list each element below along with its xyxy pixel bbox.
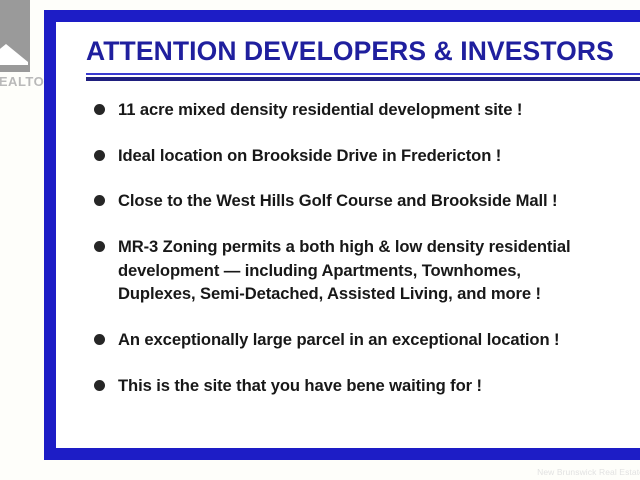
- watermark: New Brunswick Real Estate: [537, 467, 640, 477]
- list-item-line: Close to the West Hills Golf Course and …: [118, 189, 557, 213]
- flyer-page: ATTENTION DEVELOPERS & INVESTORS 11 acre…: [56, 22, 640, 448]
- list-item: Close to the West Hills Golf Course and …: [94, 189, 640, 213]
- title-divider: [86, 73, 640, 81]
- list-item-line: MR-3 Zoning permits a both high & low de…: [118, 235, 571, 259]
- bullet-dot-icon: [94, 380, 105, 391]
- list-item: An exceptionally large parcel in an exce…: [94, 328, 640, 352]
- list-item: 11 acre mixed density residential develo…: [94, 98, 640, 122]
- list-item-line: An exceptionally large parcel in an exce…: [118, 328, 559, 352]
- page-title: ATTENTION DEVELOPERS & INVESTORS: [86, 38, 640, 66]
- feature-bullet-list: 11 acre mixed density residential develo…: [86, 81, 640, 398]
- list-item-text: An exceptionally large parcel in an exce…: [118, 328, 559, 352]
- bullet-dot-icon: [94, 150, 105, 161]
- list-item: Ideal location on Brookside Drive in Fre…: [94, 144, 640, 168]
- bullet-dot-icon: [94, 334, 105, 345]
- list-item-line: development — including Apartments, Town…: [118, 259, 571, 283]
- bullet-dot-icon: [94, 241, 105, 252]
- realtor-roof-icon: [0, 42, 28, 68]
- bullet-dot-icon: [94, 195, 105, 206]
- list-item: This is the site that you have bene wait…: [94, 374, 640, 398]
- list-item-text: Ideal location on Brookside Drive in Fre…: [118, 144, 501, 168]
- list-item-line: 11 acre mixed density residential develo…: [118, 98, 522, 122]
- list-item-line: This is the site that you have bene wait…: [118, 374, 482, 398]
- list-item: MR-3 Zoning permits a both high & low de…: [94, 235, 640, 306]
- flyer-blue-frame: ATTENTION DEVELOPERS & INVESTORS 11 acre…: [44, 10, 640, 460]
- list-item-text: This is the site that you have bene wait…: [118, 374, 482, 398]
- list-item-text: Close to the West Hills Golf Course and …: [118, 189, 557, 213]
- realtor-logo: [0, 0, 30, 72]
- list-item-text: 11 acre mixed density residential develo…: [118, 98, 522, 122]
- bullet-dot-icon: [94, 104, 105, 115]
- list-item-text: MR-3 Zoning permits a both high & low de…: [118, 235, 571, 306]
- list-item-line: Ideal location on Brookside Drive in Fre…: [118, 144, 501, 168]
- list-item-line: Duplexes, Semi-Detached, Assisted Living…: [118, 282, 571, 306]
